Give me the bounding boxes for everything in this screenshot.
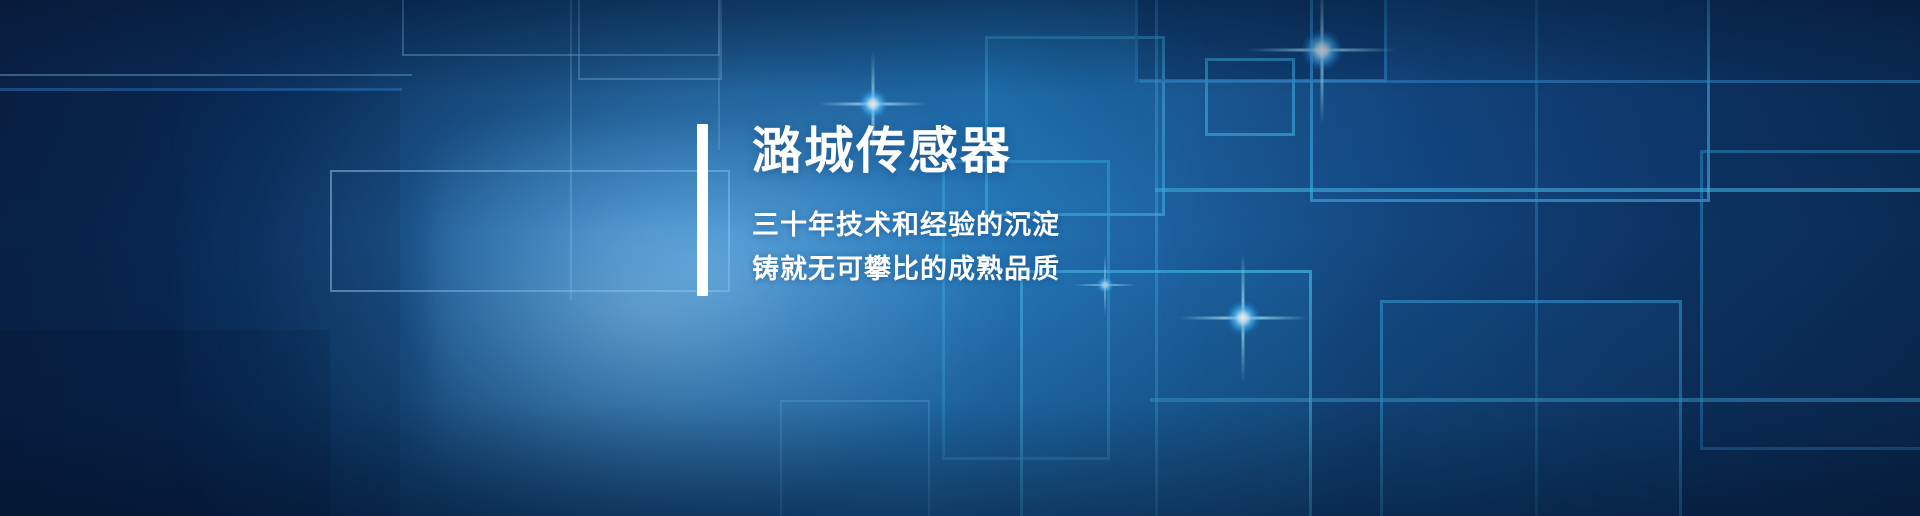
banner-subtitle-line-1: 三十年技术和经验的沉淀 [752, 212, 1060, 239]
accent-bar [697, 124, 708, 296]
banner-text-block: 潞城传感器 三十年技术和经验的沉淀 铸就无可攀比的成熟品质 [752, 124, 1060, 296]
banner-subtitle-line-2: 铸就无可攀比的成熟品质 [752, 256, 1060, 283]
banner-content: 潞城传感器 三十年技术和经验的沉淀 铸就无可攀比的成熟品质 [697, 124, 1060, 296]
hero-banner: 潞城传感器 三十年技术和经验的沉淀 铸就无可攀比的成熟品质 [0, 0, 1920, 516]
banner-title: 潞城传感器 [752, 126, 1060, 176]
